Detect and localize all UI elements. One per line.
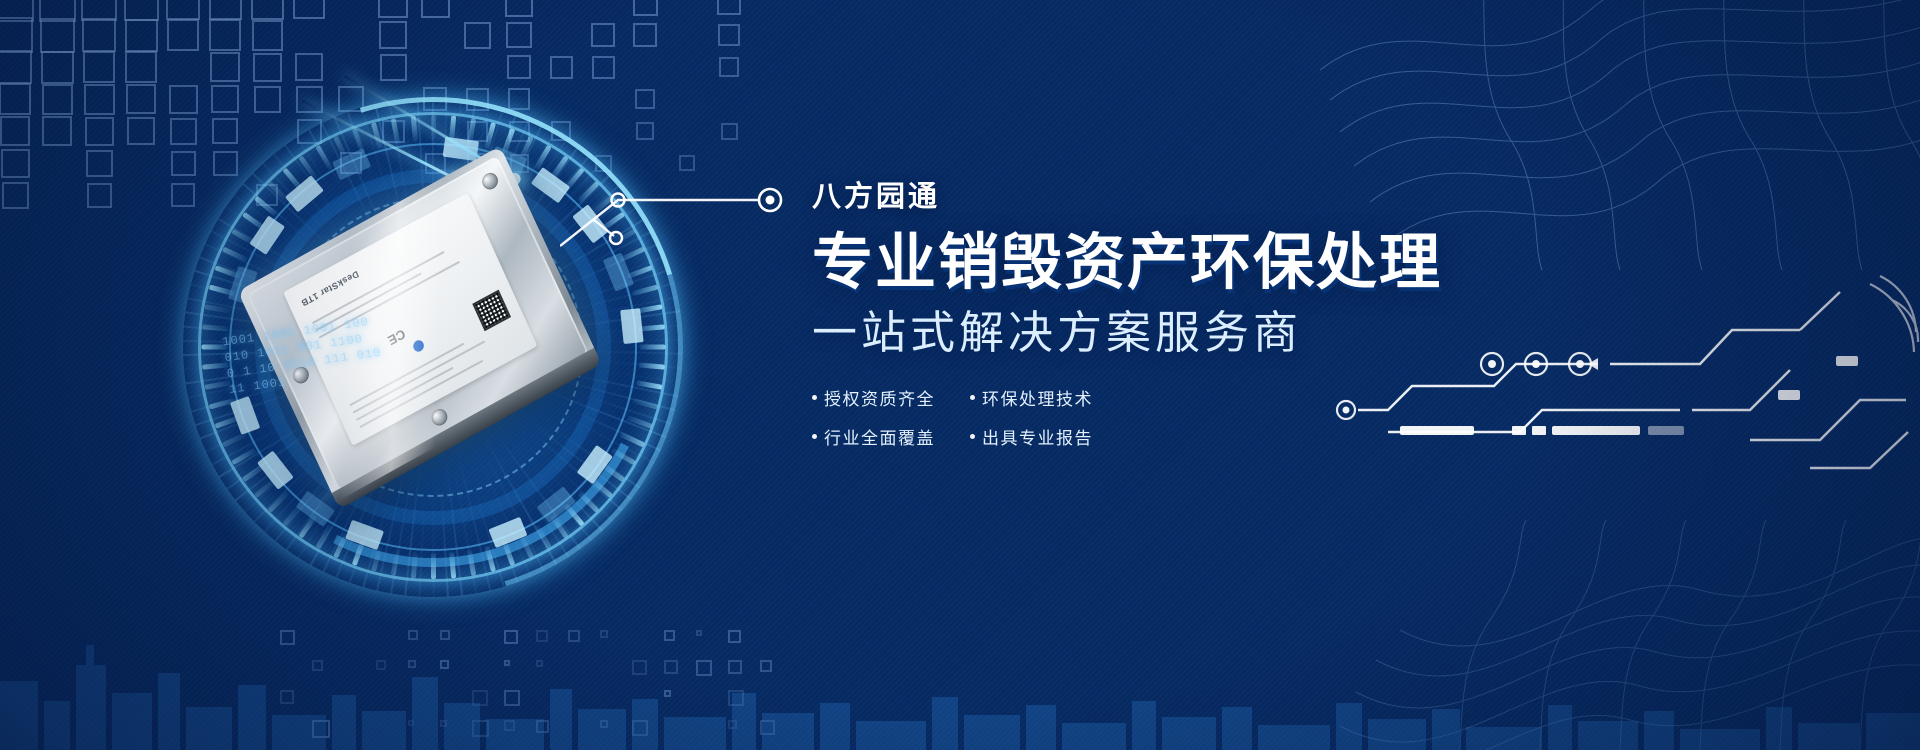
bullet-dot-icon bbox=[812, 395, 817, 400]
hdd-cert-marks: CE bbox=[386, 326, 408, 348]
subheadline-text: 一站式解决方案服务商 bbox=[812, 306, 1572, 359]
feature-list: 授权资质齐全 环保处理技术 行业全面覆盖 出具专业报告 bbox=[812, 385, 1142, 449]
connector-line-graphic bbox=[560, 172, 810, 252]
headline-text: 专业销毁资产环保处理 bbox=[812, 228, 1572, 296]
hdd-ce-mark: CE bbox=[386, 326, 408, 348]
feature-item: 行业全面覆盖 bbox=[812, 424, 952, 449]
banner-copy-block: 八方园通 专业销毁资产环保处理 一站式解决方案服务商 授权资质齐全 环保处理技术… bbox=[812, 182, 1572, 449]
bullet-dot-icon bbox=[812, 434, 817, 439]
brand-name: 八方园通 bbox=[812, 182, 1572, 214]
city-skyline-silhouette bbox=[0, 615, 1920, 750]
feature-label: 出具专业报告 bbox=[982, 424, 1093, 449]
feature-item: 环保处理技术 bbox=[970, 385, 1110, 410]
feature-label: 授权资质齐全 bbox=[824, 385, 935, 410]
hdd-blue-dot-icon bbox=[411, 338, 425, 353]
bullet-dot-icon bbox=[970, 395, 975, 400]
bullet-dot-icon bbox=[970, 434, 975, 439]
feature-label: 行业全面覆盖 bbox=[824, 424, 935, 449]
feature-label: 环保处理技术 bbox=[982, 385, 1093, 410]
feature-item: 出具专业报告 bbox=[970, 424, 1110, 449]
feature-item: 授权资质齐全 bbox=[812, 385, 952, 410]
hdd-qr-code-icon bbox=[472, 290, 511, 332]
promo-banner: DeskStar 1TB CE 1001 1001 1001 100 010 1… bbox=[0, 0, 1920, 750]
